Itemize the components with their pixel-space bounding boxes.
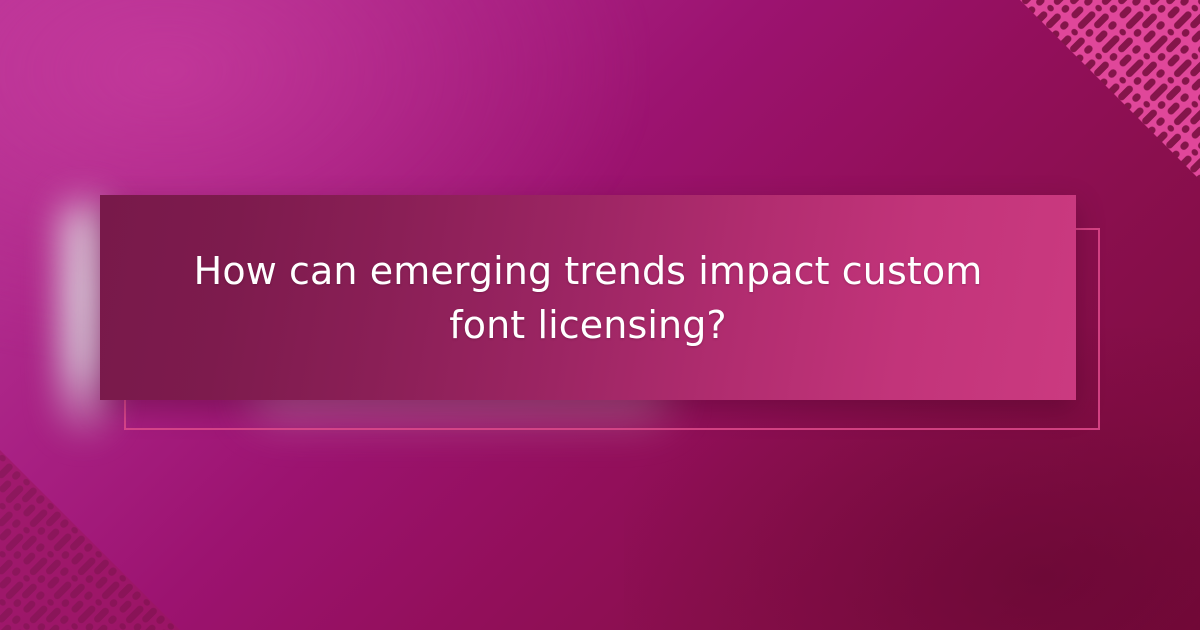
page-title: How can emerging trends impact custom fo… [160,244,1016,352]
og-card-canvas: How can emerging trends impact custom fo… [0,0,1200,630]
title-card: How can emerging trends impact custom fo… [100,195,1076,400]
title-card-content: How can emerging trends impact custom fo… [100,244,1076,352]
